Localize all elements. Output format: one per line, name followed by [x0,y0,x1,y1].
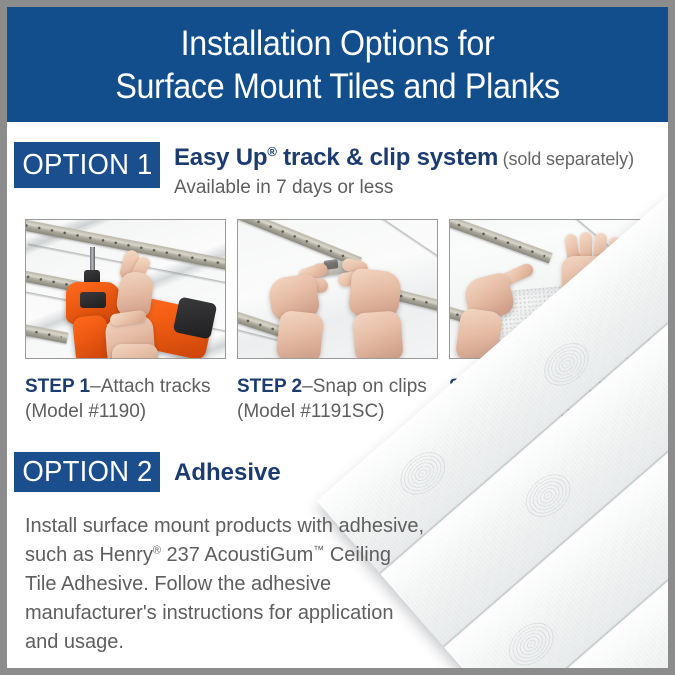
wood-knot [532,331,601,398]
option-1-title-note: (sold separately) [503,149,634,169]
option-1-badge-label: OPTION 1 [22,151,152,180]
step-2-model: (Model #1191SC) [237,401,385,422]
trademark-icon: ™ [313,544,324,556]
infographic-page: Installation Options for Surface Mount T… [0,0,675,675]
right-forearm [352,310,403,358]
drill-label [80,292,106,308]
option-1-title-rest: track & clip system [277,144,498,171]
wood-knot [497,611,566,668]
option-1-title-row: Easy Up® track & clip system (sold separ… [174,145,664,173]
step-1-label: STEP 1 [25,376,90,397]
option-2-body-text: Install surface mount products with adhe… [25,512,425,657]
forearm [112,344,158,358]
drill-battery-cap [173,296,218,339]
header-title-line-1: Installation Options for [181,22,495,65]
step-2-label: STEP 2 [237,376,302,397]
step-1-model: (Model #1190) [25,401,146,422]
option-2-body-part-2: 237 AcoustiGum [161,544,313,566]
infographic-canvas: Installation Options for Surface Mount T… [7,7,668,668]
option-2-badge: OPTION 2 [14,452,160,492]
option-1-badge: OPTION 1 [14,142,160,188]
left-forearm [276,310,325,358]
wood-knot [666,348,668,415]
step-2-photo [237,219,438,359]
registered-trademark-icon: ® [267,144,276,159]
option-1-subtitle: Available in 7 days or less [174,176,664,200]
step-2-dash: – [302,376,313,397]
step-1-caption: STEP 1–Attach tracks (Model #1190) [25,374,233,424]
option-1-heading-block: Easy Up® track & clip system (sold separ… [174,145,664,200]
step-1-text: Attach tracks [101,376,211,397]
step-1-dash: – [90,376,101,397]
wood-knot [514,462,583,529]
header-title-line-2: Surface Mount Tiles and Planks [115,65,560,108]
option-2-title: Adhesive [174,459,281,487]
step-2-text: Snap on clips [313,376,427,397]
option-2-badge-label: OPTION 2 [22,458,152,487]
header-banner: Installation Options for Surface Mount T… [7,7,668,122]
registered-trademark-icon: ® [153,544,161,556]
step-1-photo [25,219,226,359]
step-2-photo-content [238,220,437,358]
step-1-photo-content [26,220,225,358]
option-1-title-main: Easy Up [174,144,267,171]
wood-knot [388,440,457,507]
drill-handle [72,314,110,358]
